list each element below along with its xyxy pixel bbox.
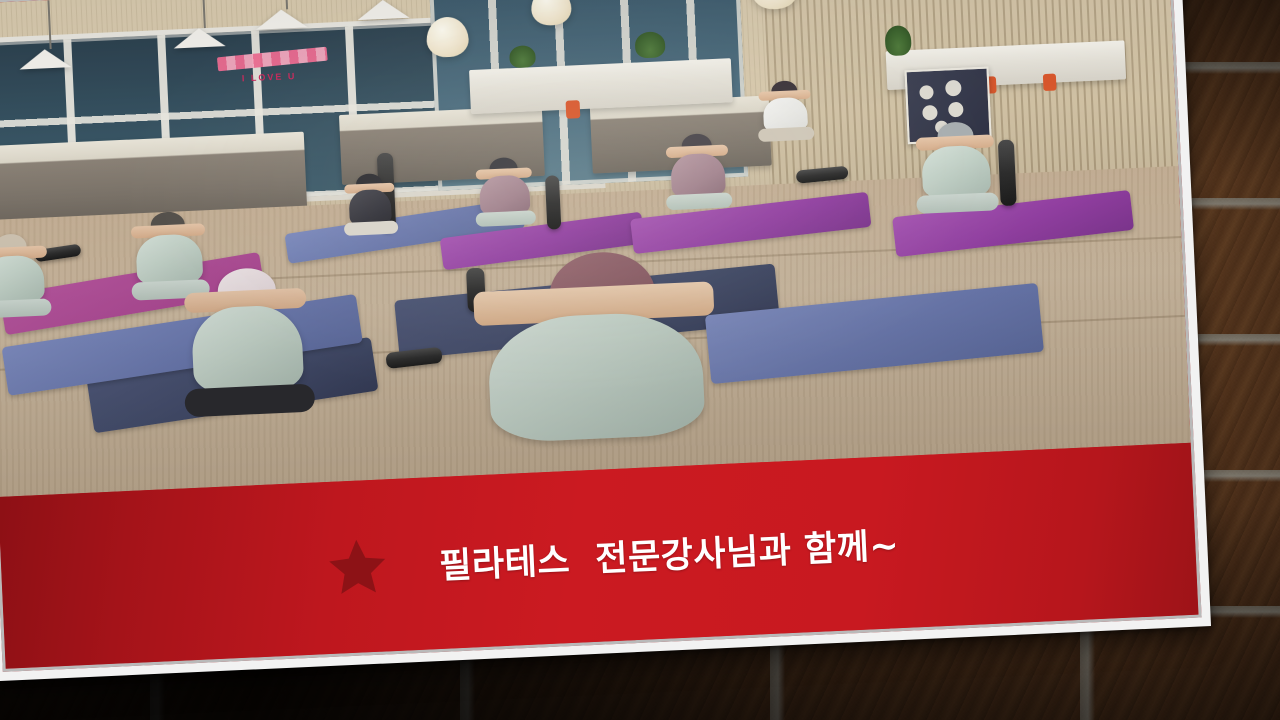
participant-back-3 — [663, 132, 732, 211]
participant-legs — [344, 220, 399, 235]
pendant-lamp-icon-4 — [357, 0, 410, 20]
photo-clip: I LOVE U — [0, 0, 1191, 497]
foam-roller-4 — [998, 139, 1017, 206]
participant-torso — [921, 145, 991, 200]
participant-legs — [184, 383, 315, 417]
participant-mid-cap — [179, 265, 316, 421]
participant-legs — [666, 192, 733, 210]
participant-legs — [475, 210, 536, 227]
poster-dot-1 — [920, 85, 935, 100]
participant-legs — [917, 192, 1000, 214]
stool-3 — [1042, 73, 1056, 91]
poster-dot-3 — [922, 105, 938, 121]
participant-torso — [0, 255, 45, 306]
pendant-lamp-icon-3 — [256, 8, 309, 29]
star-icon — [326, 536, 389, 597]
participant-back-4 — [913, 120, 999, 216]
slide-stage: I LOVE U — [0, 0, 1280, 720]
lamp-cord-3 — [286, 0, 289, 9]
foam-roller-2 — [545, 175, 561, 230]
participant-left-1 — [0, 233, 52, 322]
instructor-legs — [758, 126, 815, 142]
stool-1 — [566, 100, 581, 119]
participant-back-2 — [473, 156, 536, 229]
participant-foreground — [465, 237, 724, 458]
poster-dot-4 — [948, 101, 964, 117]
photo-card-inner: I LOVE U — [0, 0, 1202, 672]
participant-torso — [191, 304, 305, 395]
pendant-lamp-icon-2 — [173, 27, 226, 48]
participant-legs — [0, 299, 52, 319]
potted-plant-1 — [509, 45, 536, 68]
poster-dot-2 — [945, 79, 962, 96]
photo-card: I LOVE U — [0, 0, 1211, 681]
caption-text: 필라테스 전문강사님과 함께~ — [438, 517, 900, 589]
class-photo: I LOVE U — [0, 0, 1191, 497]
instructor — [756, 79, 815, 145]
caption-row: 필라테스 전문강사님과 함께~ — [1, 500, 1196, 612]
pendant-lamp-icon-1 — [18, 49, 71, 70]
potted-plant-2 — [634, 32, 665, 59]
participant-back-1 — [342, 172, 399, 238]
participant-torso-foreground — [486, 310, 705, 444]
